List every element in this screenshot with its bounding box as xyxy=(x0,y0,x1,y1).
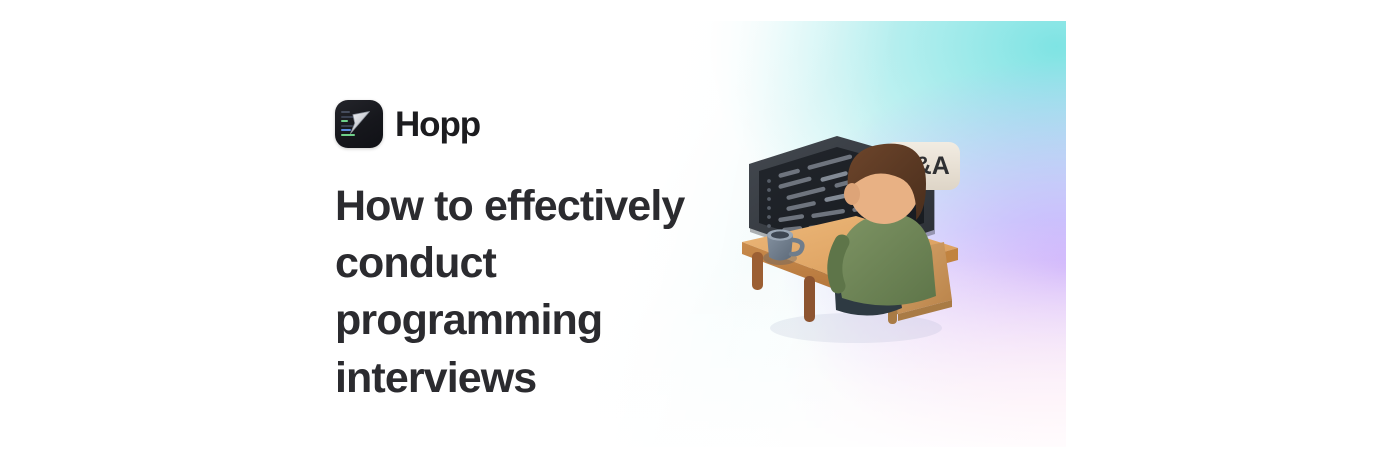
brand-lockup[interactable]: Hopp xyxy=(335,100,480,148)
person-ear xyxy=(844,183,860,205)
hero-banner: Q&A xyxy=(0,0,1400,467)
hopp-logo-mark[interactable] xyxy=(335,100,383,148)
desk-leg xyxy=(752,252,763,290)
person-arm xyxy=(835,242,842,286)
cursor-arrow-icon xyxy=(344,108,376,140)
developer-at-desk-illustration: Q&A xyxy=(738,124,978,349)
desk-leg xyxy=(804,276,815,322)
hopp-wordmark: Hopp xyxy=(395,107,480,142)
ground-shadow xyxy=(770,313,942,343)
page-title: How to effectively conduct programming i… xyxy=(335,178,735,407)
